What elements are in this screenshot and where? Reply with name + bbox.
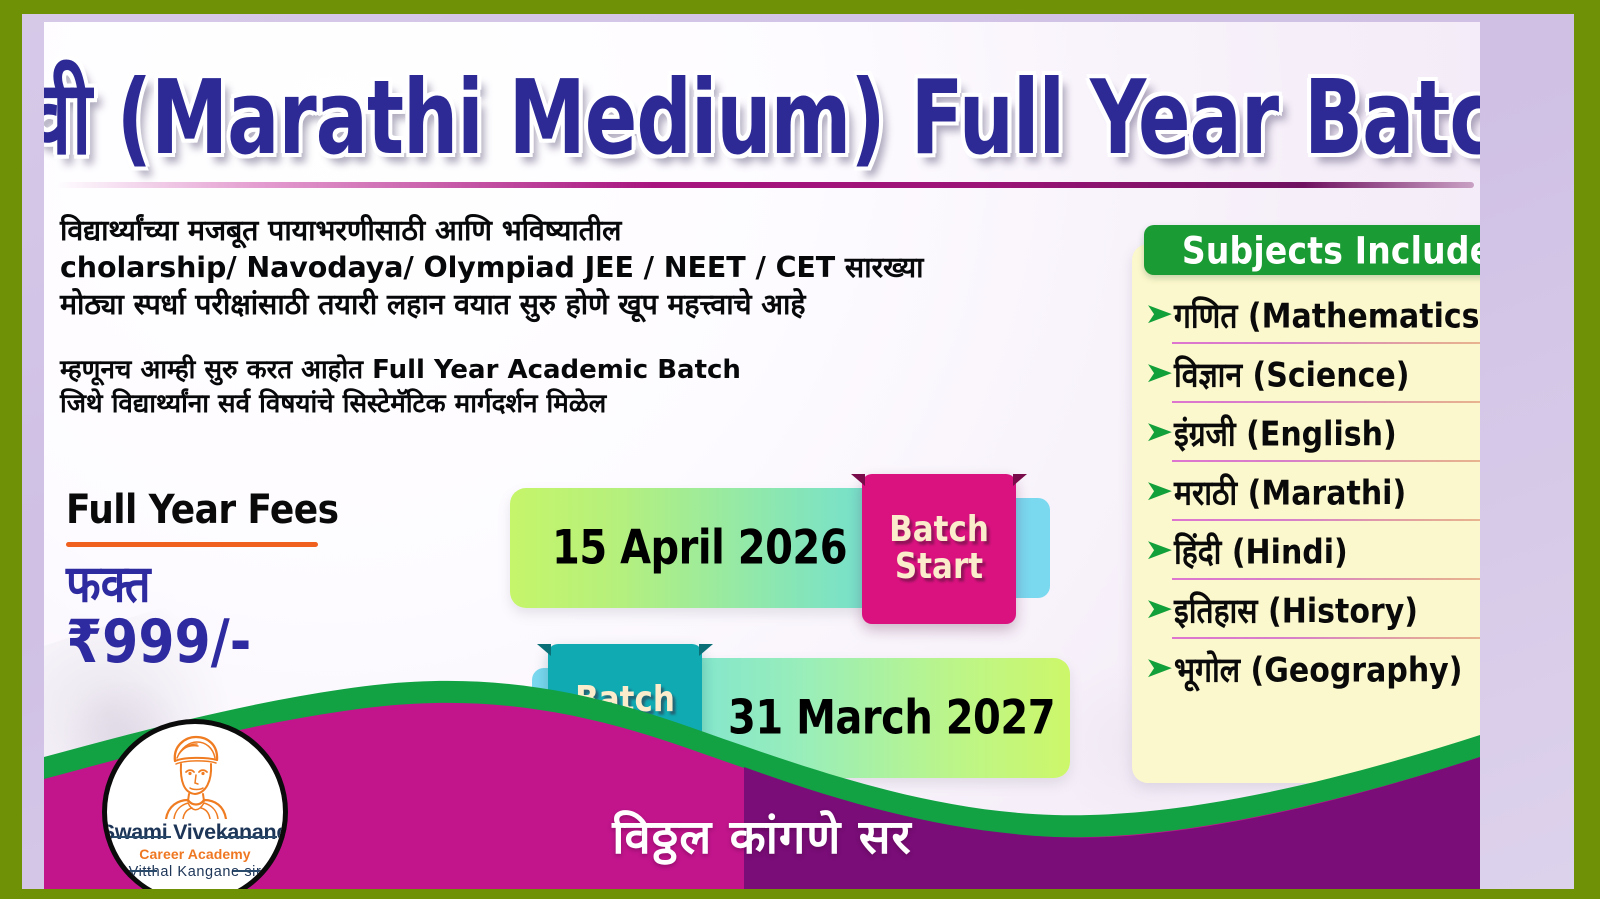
list-item: ➤ मराठी (Marathi) bbox=[1144, 462, 1480, 521]
batch-start-label: Batch Start bbox=[889, 512, 989, 585]
logo-rule-b-right bbox=[233, 870, 267, 872]
fees-label: Full Year Fees bbox=[66, 487, 396, 533]
list-item: ➤ भूगोल (Geography) bbox=[1144, 639, 1480, 698]
subject-label: मराठी (Marathi) bbox=[1174, 468, 1406, 515]
subjects-header-label: Subjects Included bbox=[1182, 228, 1480, 272]
list-item: ➤ गणित (Mathematics) bbox=[1144, 285, 1480, 344]
title-area: 9वी (Marathi Medium) Full Year Batch bbox=[44, 58, 1480, 178]
batch-start-ribbon: Batch Start bbox=[862, 474, 1016, 624]
batch-end-label: Batch End bbox=[575, 682, 675, 755]
subject-label: विज्ञान (Science) bbox=[1174, 350, 1409, 397]
subject-label: गणित (Mathematics) bbox=[1174, 291, 1480, 338]
batch-end-label-line2: End bbox=[575, 719, 675, 756]
batch-start-label-line1: Batch bbox=[889, 512, 989, 549]
second-line-2: जिथे विद्यार्थ्यांना सर्व विषयांचे सिस्ट… bbox=[60, 387, 1070, 421]
ribbon-notch-left bbox=[851, 474, 865, 486]
subjects-list: ➤ गणित (Mathematics) ➤ विज्ञान (Science)… bbox=[1144, 285, 1480, 698]
body-copy: विद्यार्थ्यांच्या मजबूत पायाभरणीसाठी आणि… bbox=[60, 212, 1070, 422]
second-line-1: म्हणूनच आम्ही सुरु करत आहोत Full Year Ac… bbox=[60, 353, 1070, 387]
chevron-right-icon: ➤ bbox=[1140, 302, 1178, 327]
chevron-right-icon: ➤ bbox=[1140, 597, 1178, 622]
intro-line-2: cholarship/ Navodaya/ Olympiad JEE / NEE… bbox=[60, 249, 1070, 286]
batch-start-card: 15 April 2026 Batch Start bbox=[510, 474, 1065, 614]
fees-block: Full Year Fees फक्त ₹999/- bbox=[66, 487, 396, 660]
fees-prefix: फक्त bbox=[66, 554, 150, 614]
ribbon-notch-left bbox=[537, 644, 551, 656]
footer-teacher-name: विठ्ठल कांगणे सर bbox=[44, 803, 1480, 867]
intro-line-3: मोठ्या स्पर्धा परीक्षांसाठी तयारी लहान व… bbox=[60, 286, 1070, 323]
fees-underline bbox=[66, 542, 318, 547]
chevron-right-icon: ➤ bbox=[1140, 420, 1178, 445]
second-paragraph: म्हणूनच आम्ही सुरु करत आहोत Full Year Ac… bbox=[60, 353, 1070, 422]
batch-end-card: 31 March 2027 Batch End bbox=[510, 644, 1070, 784]
subject-label: इंग्रजी (English) bbox=[1174, 409, 1397, 456]
intro-paragraph: विद्यार्थ्यांच्या मजबूत पायाभरणीसाठी आणि… bbox=[60, 212, 1070, 323]
ribbon-notch-right bbox=[1013, 474, 1027, 486]
chevron-right-icon: ➤ bbox=[1140, 656, 1178, 681]
batch-start-label-line2: Start bbox=[889, 549, 989, 586]
intro-line-1: विद्यार्थ्यांच्या मजबूत पायाभरणीसाठी आणि… bbox=[60, 212, 1070, 249]
poster-root: 9वी (Marathi Medium) Full Year Batch विद… bbox=[0, 0, 1600, 899]
ribbon-notch-right bbox=[699, 644, 713, 656]
subjects-header: Subjects Included bbox=[1144, 225, 1480, 275]
fees-value: ₹999/- bbox=[66, 611, 396, 674]
batch-end-ribbon: Batch End bbox=[548, 644, 702, 794]
content-sheet: 9वी (Marathi Medium) Full Year Batch विद… bbox=[44, 22, 1480, 889]
poster-title: 9वी (Marathi Medium) Full Year Batch bbox=[44, 67, 1480, 170]
subject-label: इतिहास (History) bbox=[1174, 586, 1418, 633]
list-item: ➤ इंग्रजी (English) bbox=[1144, 403, 1480, 462]
list-item: ➤ इतिहास (History) bbox=[1144, 580, 1480, 639]
batch-end-date: 31 March 2027 bbox=[728, 691, 1128, 745]
chevron-right-icon: ➤ bbox=[1140, 361, 1178, 386]
chevron-right-icon: ➤ bbox=[1140, 538, 1178, 563]
subject-label: भूगोल (Geography) bbox=[1174, 645, 1462, 692]
fees-amount: फक्त ₹999/- bbox=[66, 557, 396, 674]
list-item: ➤ विज्ञान (Science) bbox=[1144, 344, 1480, 403]
list-item: ➤ हिंदी (Hindi) bbox=[1144, 521, 1480, 580]
batch-end-label-line1: Batch bbox=[575, 682, 675, 719]
subject-label: हिंदी (Hindi) bbox=[1174, 527, 1348, 574]
title-divider bbox=[58, 182, 1474, 188]
chevron-right-icon: ➤ bbox=[1140, 479, 1178, 504]
logo-rule-b-left bbox=[123, 870, 157, 872]
